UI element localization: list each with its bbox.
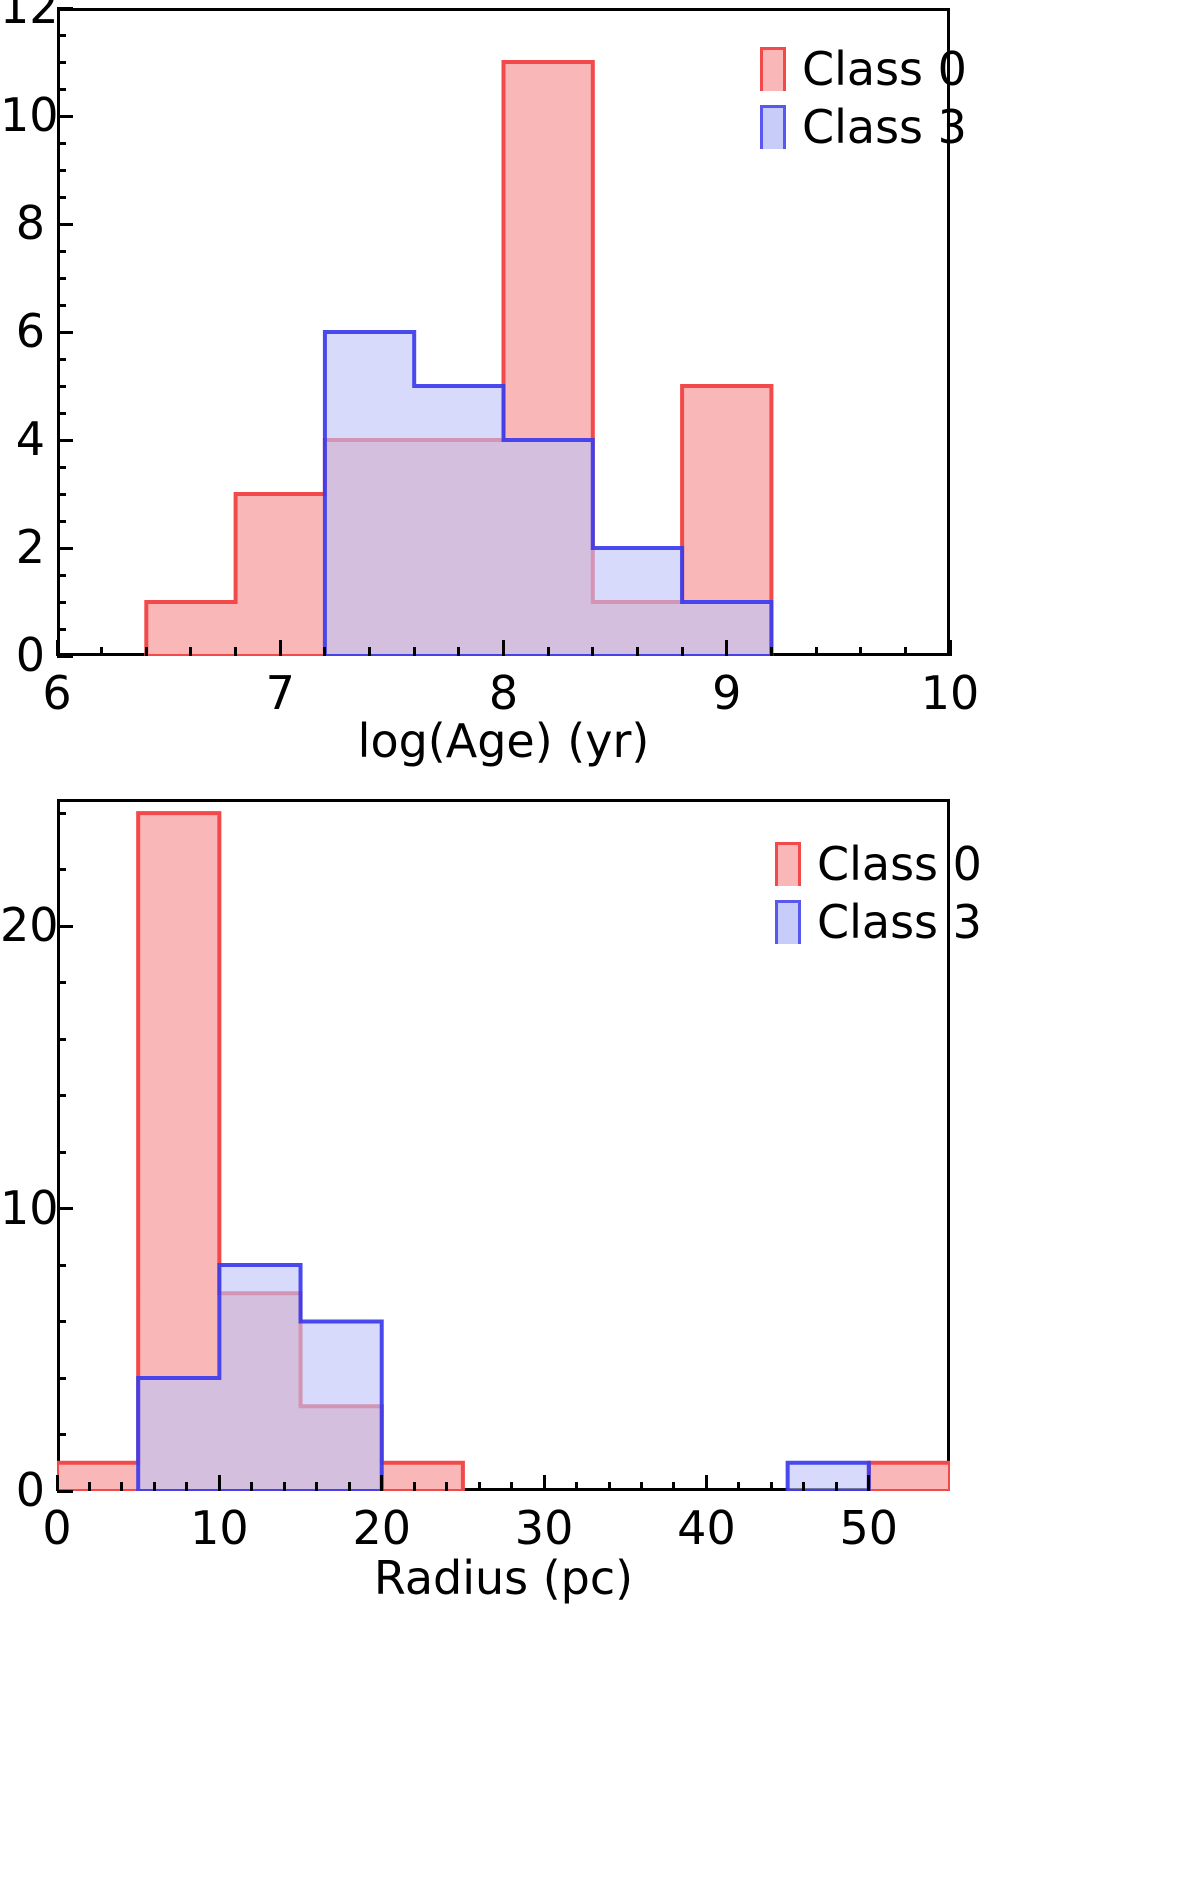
y-minor-tick xyxy=(57,981,66,984)
x-minor-tick xyxy=(145,647,148,656)
y-tick-label: 20 xyxy=(0,902,45,948)
x-axis-title-bottom: Radius (pc) xyxy=(57,1555,950,1601)
y-major-tick xyxy=(57,1207,73,1210)
x-minor-tick xyxy=(770,1482,773,1491)
x-minor-tick xyxy=(636,647,639,656)
x-minor-tick xyxy=(315,1482,318,1491)
y-tick-label: 4 xyxy=(0,416,45,462)
x-minor-tick xyxy=(283,1482,286,1491)
x-major-tick xyxy=(543,1475,546,1491)
figure-root: Class 0Class 3 log(Age) (yr) 67891002468… xyxy=(0,0,1200,1891)
legend-swatch-icon xyxy=(775,842,801,886)
panel-log-age: Class 0Class 3 log(Age) (yr) 67891002468… xyxy=(0,0,1200,780)
x-minor-tick xyxy=(575,1482,578,1491)
legend-label: Class 0 xyxy=(817,841,982,887)
y-major-tick xyxy=(57,7,73,10)
x-major-tick xyxy=(502,640,505,656)
y-minor-tick xyxy=(57,304,66,307)
y-minor-tick xyxy=(57,1038,66,1041)
y-major-tick xyxy=(57,925,73,928)
x-major-tick xyxy=(380,1475,383,1491)
y-tick-label: 10 xyxy=(0,92,45,138)
y-minor-tick xyxy=(57,601,66,604)
legend-label: Class 3 xyxy=(802,104,967,150)
x-minor-tick xyxy=(234,647,237,656)
x-tick-label: 10 xyxy=(880,670,1020,716)
x-minor-tick xyxy=(250,1482,253,1491)
x-major-tick xyxy=(705,1475,708,1491)
y-major-tick xyxy=(57,547,73,550)
x-minor-tick xyxy=(457,647,460,656)
legend-bottom: Class 0Class 3 xyxy=(775,835,982,951)
x-minor-tick xyxy=(185,1482,188,1491)
x-minor-tick xyxy=(413,1482,416,1491)
y-minor-tick xyxy=(57,142,66,145)
y-minor-tick xyxy=(57,385,66,388)
panel-radius: Class 0Class 3 Radius (pc) 0102030405001… xyxy=(0,780,1200,1891)
y-minor-tick xyxy=(57,628,66,631)
y-minor-tick xyxy=(57,1433,66,1436)
x-minor-tick xyxy=(88,1482,91,1491)
x-minor-tick xyxy=(323,647,326,656)
legend-item-class-0[interactable]: Class 0 xyxy=(775,835,982,893)
y-tick-label: 12 xyxy=(0,0,45,30)
legend-swatch-icon xyxy=(760,47,786,91)
y-minor-tick xyxy=(57,250,66,253)
x-minor-tick xyxy=(510,1482,513,1491)
y-minor-tick xyxy=(57,61,66,64)
x-minor-tick xyxy=(413,647,416,656)
x-minor-tick xyxy=(608,1482,611,1491)
x-minor-tick xyxy=(478,1482,481,1491)
x-tick-label: 10 xyxy=(149,1505,289,1551)
x-minor-tick xyxy=(100,647,103,656)
x-minor-tick xyxy=(368,647,371,656)
y-minor-tick xyxy=(57,277,66,280)
x-tick-label: 50 xyxy=(799,1505,939,1551)
x-tick-label: 30 xyxy=(474,1505,614,1551)
y-tick-label: 6 xyxy=(0,308,45,354)
y-minor-tick xyxy=(57,574,66,577)
x-minor-tick xyxy=(348,1482,351,1491)
y-minor-tick xyxy=(57,412,66,415)
legend-item-class-0[interactable]: Class 0 xyxy=(760,40,967,98)
y-minor-tick xyxy=(57,34,66,37)
x-tick-label: 7 xyxy=(210,670,350,716)
y-minor-tick xyxy=(57,1094,66,1097)
x-tick-label: 9 xyxy=(657,670,797,716)
y-tick-label: 10 xyxy=(0,1185,45,1231)
y-minor-tick xyxy=(57,868,66,871)
y-minor-tick xyxy=(57,196,66,199)
x-minor-tick xyxy=(815,647,818,656)
histogram-outline xyxy=(138,1265,869,1491)
x-minor-tick xyxy=(445,1482,448,1491)
y-tick-label: 2 xyxy=(0,524,45,570)
histogram-series-class-3 xyxy=(138,1265,869,1491)
y-tick-label: 0 xyxy=(0,1467,45,1513)
legend-item-class-3[interactable]: Class 3 xyxy=(760,98,967,156)
x-major-tick xyxy=(867,1475,870,1491)
legend-swatch-icon xyxy=(760,105,786,149)
y-major-tick xyxy=(57,439,73,442)
y-major-tick xyxy=(57,115,73,118)
x-major-tick xyxy=(949,640,952,656)
x-minor-tick xyxy=(835,1482,838,1491)
x-minor-tick xyxy=(859,647,862,656)
y-major-tick xyxy=(57,223,73,226)
x-minor-tick xyxy=(904,647,907,656)
y-minor-tick xyxy=(57,520,66,523)
x-major-tick xyxy=(725,640,728,656)
y-minor-tick xyxy=(57,88,66,91)
y-major-tick xyxy=(57,1490,73,1493)
y-minor-tick xyxy=(57,1151,66,1154)
y-tick-label: 0 xyxy=(0,632,45,678)
x-minor-tick xyxy=(802,1482,805,1491)
legend-item-class-3[interactable]: Class 3 xyxy=(775,893,982,951)
x-tick-label: 20 xyxy=(312,1505,452,1551)
x-major-tick xyxy=(279,640,282,656)
y-major-tick xyxy=(57,331,73,334)
x-minor-tick xyxy=(681,647,684,656)
x-minor-tick xyxy=(640,1482,643,1491)
x-axis-title-top: log(Age) (yr) xyxy=(57,718,950,764)
x-minor-tick xyxy=(120,1482,123,1491)
x-minor-tick xyxy=(737,1482,740,1491)
y-minor-tick xyxy=(57,169,66,172)
y-minor-tick xyxy=(57,812,66,815)
x-minor-tick xyxy=(189,647,192,656)
legend-label: Class 3 xyxy=(817,899,982,945)
x-minor-tick xyxy=(770,647,773,656)
x-major-tick xyxy=(218,1475,221,1491)
legend-swatch-icon xyxy=(775,900,801,944)
y-minor-tick xyxy=(57,1320,66,1323)
x-tick-label: 40 xyxy=(636,1505,776,1551)
y-minor-tick xyxy=(57,1377,66,1380)
y-major-tick xyxy=(57,655,73,658)
x-minor-tick xyxy=(547,647,550,656)
legend-label: Class 0 xyxy=(802,46,967,92)
x-tick-label: 8 xyxy=(434,670,574,716)
x-minor-tick xyxy=(153,1482,156,1491)
y-minor-tick xyxy=(57,493,66,496)
y-minor-tick xyxy=(57,1264,66,1267)
y-minor-tick xyxy=(57,358,66,361)
x-minor-tick xyxy=(591,647,594,656)
legend-top: Class 0Class 3 xyxy=(760,40,967,156)
x-minor-tick xyxy=(672,1482,675,1491)
y-tick-label: 8 xyxy=(0,200,45,246)
y-minor-tick xyxy=(57,466,66,469)
